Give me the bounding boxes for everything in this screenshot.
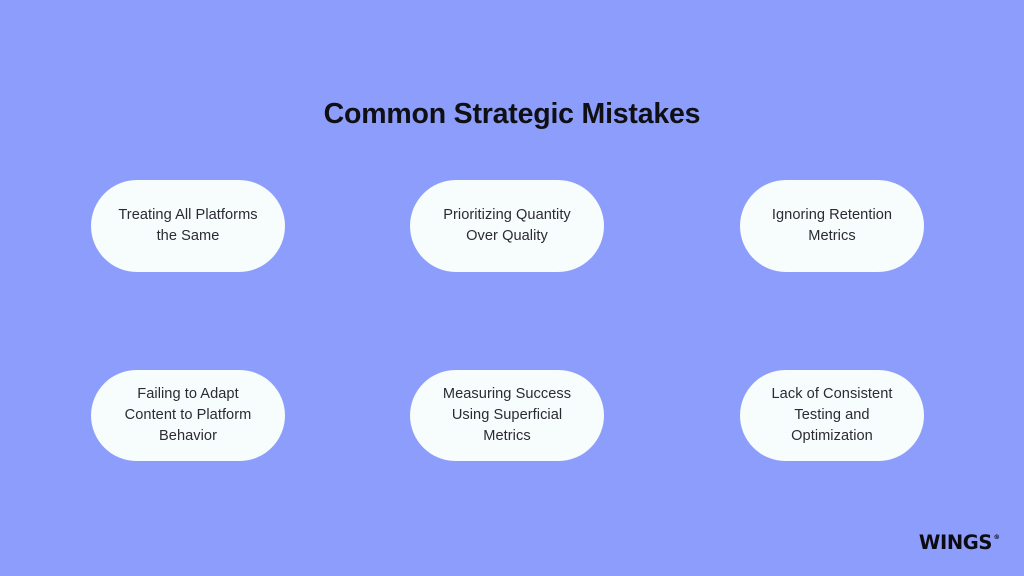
- mistake-card-label: Failing to Adapt Content to Platform Beh…: [125, 384, 252, 448]
- page-title: Common Strategic Mistakes: [0, 97, 1024, 131]
- mistake-card-3: Ignoring Retention Metrics: [740, 180, 924, 272]
- wings-wordmark: WINGS: [919, 533, 992, 553]
- mistake-card-2: Prioritizing Quantity Over Quality: [410, 180, 604, 272]
- slide-canvas: Common Strategic Mistakes Treating All P…: [0, 0, 1024, 576]
- mistake-card-label: Ignoring Retention Metrics: [772, 205, 892, 248]
- mistake-card-label: Prioritizing Quantity Over Quality: [443, 205, 571, 248]
- mistake-card-5: Measuring Success Using Superficial Metr…: [410, 370, 604, 461]
- mistake-card-6: Lack of Consistent Testing and Optimizat…: [740, 370, 924, 461]
- mistake-card-1: Treating All Platforms the Same: [91, 180, 285, 272]
- mistake-card-4: Failing to Adapt Content to Platform Beh…: [91, 370, 285, 461]
- wings-logo: WINGS ®: [919, 533, 1000, 553]
- registered-trademark-icon: ®: [994, 534, 1001, 541]
- mistake-card-label: Lack of Consistent Testing and Optimizat…: [772, 384, 893, 448]
- mistake-card-label: Measuring Success Using Superficial Metr…: [443, 384, 571, 448]
- mistake-card-label: Treating All Platforms the Same: [118, 205, 257, 248]
